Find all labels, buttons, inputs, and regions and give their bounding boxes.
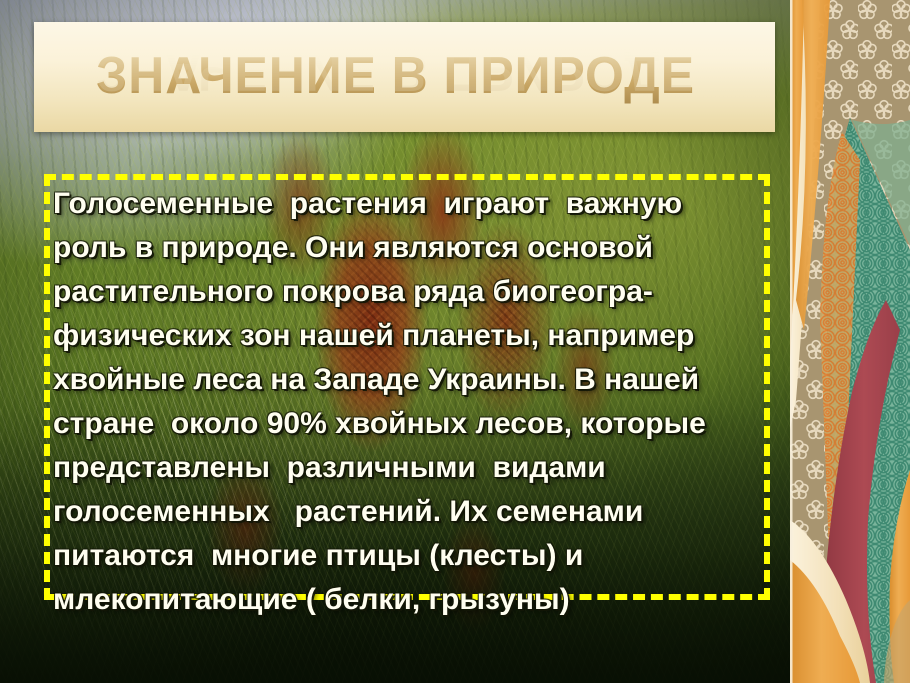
decorative-border-art	[790, 0, 910, 683]
body-line: питаются многие птицы (клесты) и	[53, 534, 753, 578]
presentation-slide: ЗНАЧЕНИЕ В ПРИРОДЕ ЗНАЧЕНИЕ В ПРИРОДЕ Го…	[0, 0, 910, 683]
body-line: растительного покрова ряда биогеогра-	[53, 270, 753, 314]
body-line: млекопитающие ( белки, грызуны)	[53, 578, 753, 622]
decorative-border-panel	[790, 0, 910, 683]
body-line: физических зон нашей планеты, например	[53, 314, 753, 358]
body-line: роль в природе. Они являются основой	[53, 226, 753, 270]
body-line: представлены различными видами	[53, 446, 753, 490]
body-line: стране около 90% хвойных лесов, которые	[53, 402, 753, 446]
body-line: голосеменных растений. Их семенами	[53, 490, 753, 534]
body-paragraph: Голосеменные растения играют важную роль…	[53, 182, 753, 622]
deco-left-edge-line	[790, 0, 793, 683]
page-title: ЗНАЧЕНИЕ В ПРИРОДЕ	[96, 46, 695, 106]
body-line: Голосеменные растения играют важную	[53, 182, 753, 226]
body-line: хвойные леса на Западе Украины. В нашей	[53, 358, 753, 402]
title-plaque: ЗНАЧЕНИЕ В ПРИРОДЕ ЗНАЧЕНИЕ В ПРИРОДЕ	[34, 22, 775, 132]
